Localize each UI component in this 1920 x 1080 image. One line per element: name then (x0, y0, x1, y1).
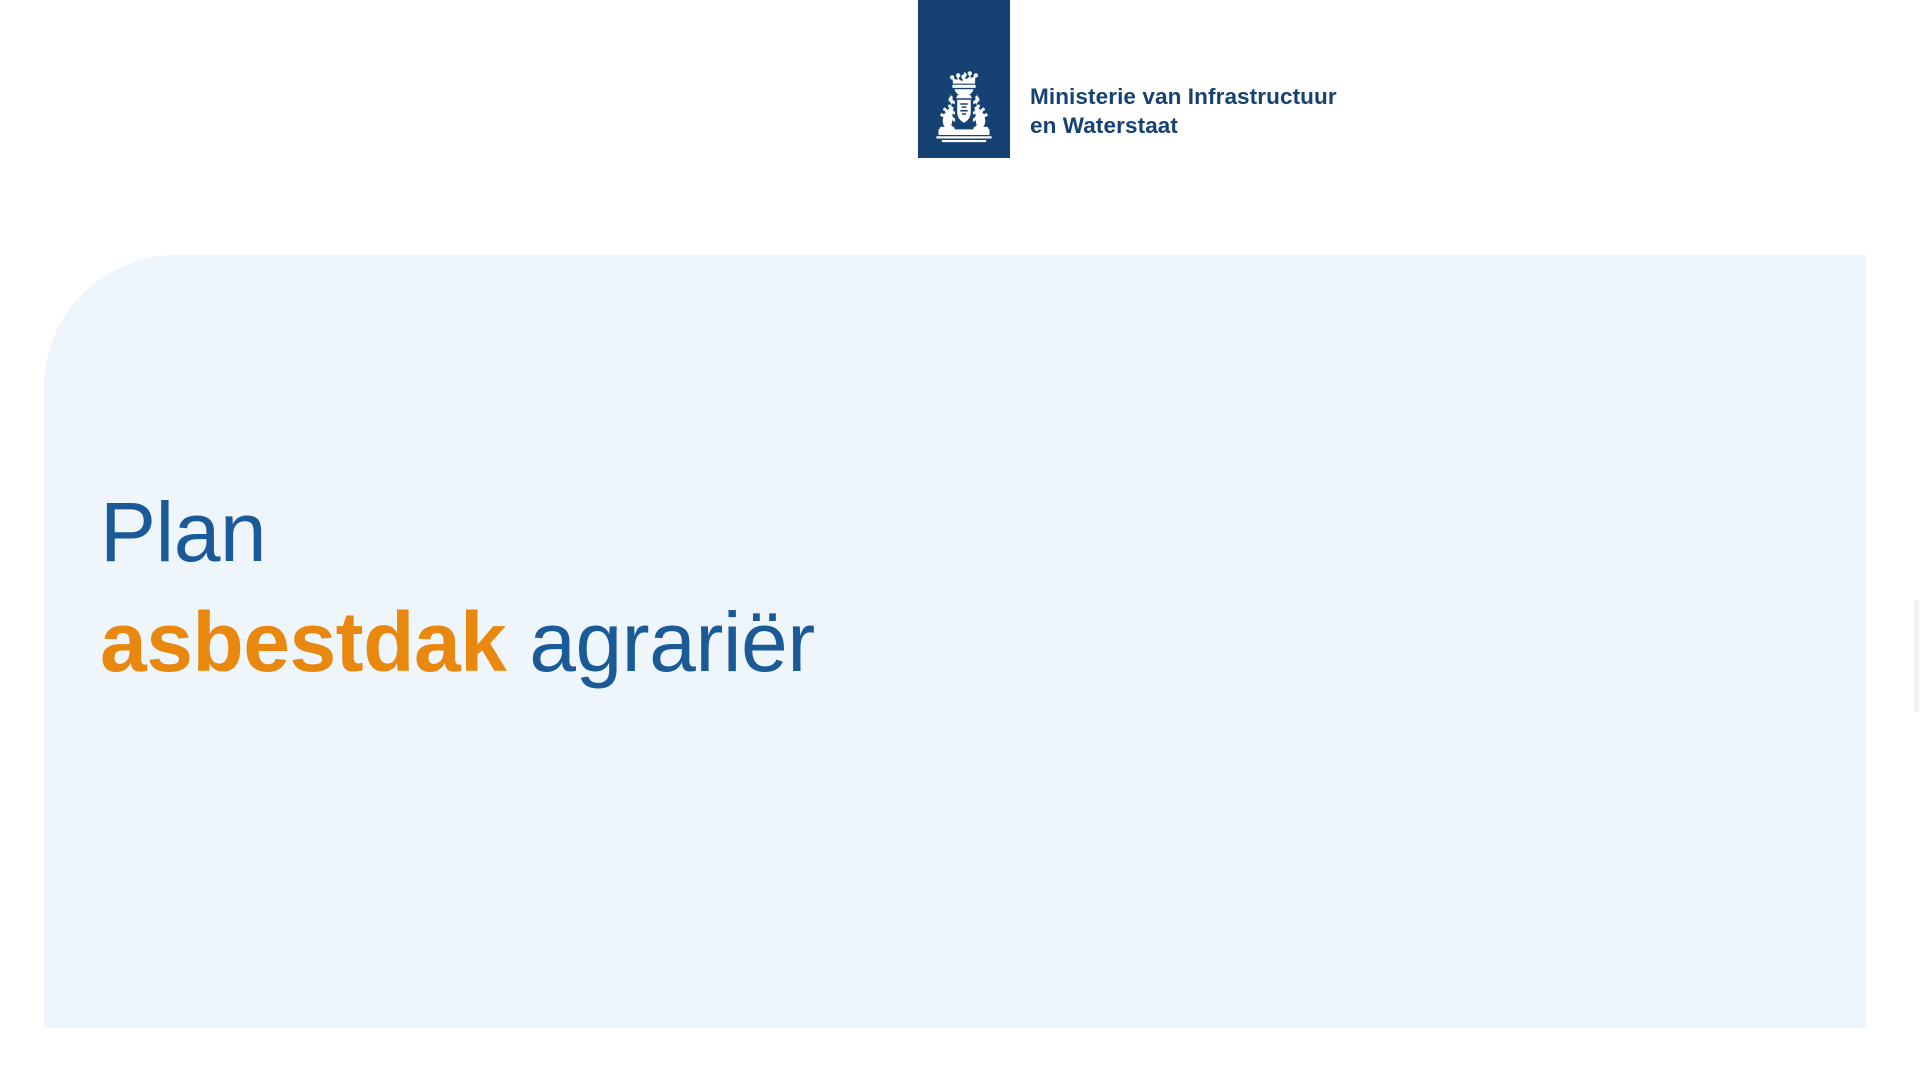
page-title-line-1: Plan (100, 477, 815, 587)
page-title-subject: agrariër (506, 595, 814, 689)
page-title: Plan asbestdak agrariër (100, 477, 815, 697)
page-scrollbar-thumb[interactable] (1914, 600, 1919, 712)
logo-blue-bar (918, 0, 1010, 158)
page-title-line-2: asbestdak agrariër (100, 587, 815, 697)
page-header: Ministerie van Infrastructuur en Waterst… (0, 0, 1920, 200)
rijksoverheid-coat-of-arms-icon (927, 70, 1001, 148)
organization-name: Ministerie van Infrastructuur en Waterst… (1030, 82, 1337, 140)
hero-panel: Plan asbestdak agrariër (44, 255, 1866, 1028)
organization-name-line-2: en Waterstaat (1030, 111, 1337, 140)
page-title-accent: asbestdak (100, 595, 506, 689)
page-scrollbar[interactable] (1913, 0, 1920, 1080)
organization-name-line-1: Ministerie van Infrastructuur (1030, 82, 1337, 111)
rijksoverheid-logo: Ministerie van Infrastructuur en Waterst… (918, 0, 1337, 158)
